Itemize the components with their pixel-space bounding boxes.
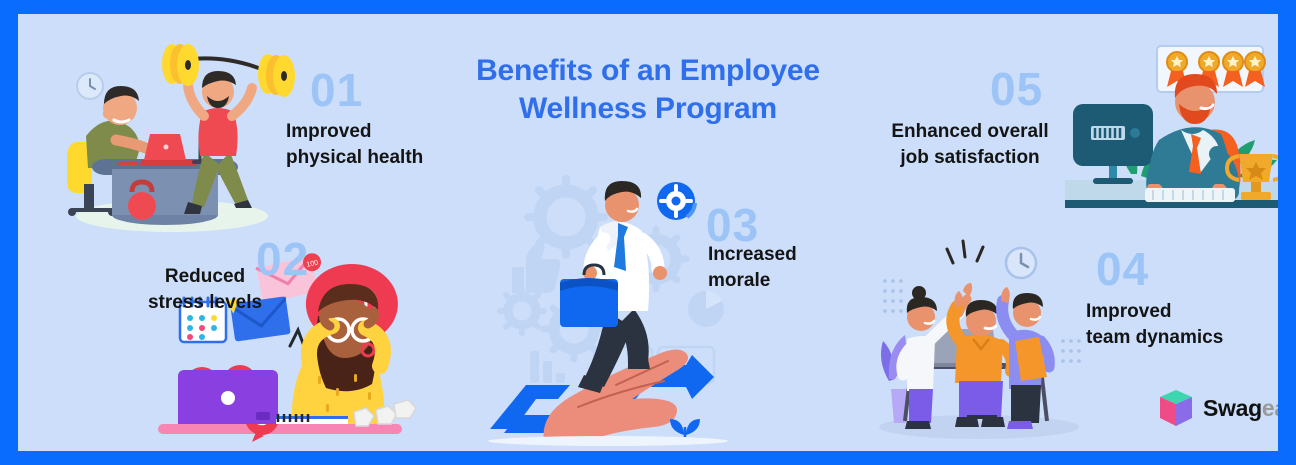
- benefit-number-05: 05: [990, 66, 1043, 112]
- title-line-1: Benefits of an Employee: [476, 54, 820, 87]
- logo-wordmark: Swageazy: [1203, 395, 1278, 422]
- high-five-spark: [947, 241, 983, 263]
- caption-line-2: physical health: [286, 147, 423, 168]
- wall-clock-icon: [1006, 248, 1036, 278]
- caption-line-2: stress levels: [148, 292, 262, 313]
- infographic-poster: Benefits of an Employee Wellness Program: [0, 0, 1296, 465]
- illustration-increased-morale: [488, 179, 738, 444]
- thumbs-up-icon: [512, 243, 560, 293]
- swageazy-logo[interactable]: Swageazy: [1158, 388, 1278, 428]
- benefit-number-01: 01: [310, 67, 363, 113]
- illustration-improved-team-dynamics: [873, 229, 1093, 444]
- poster-canvas: Benefits of an Employee Wellness Program: [18, 14, 1278, 451]
- benefit-caption-03: Increased morale: [708, 242, 898, 293]
- benefit-caption-04: Improved team dynamics: [1086, 299, 1278, 350]
- logo-text-primary: Swag: [1203, 395, 1262, 421]
- benefit-caption-01: Improved physical health: [286, 119, 476, 170]
- illustration-enhanced-job-satisfaction: [1063, 42, 1278, 227]
- caption-line-1: Improved: [1086, 301, 1172, 322]
- wall-clock-icon: [77, 73, 103, 99]
- caption-line-2: morale: [708, 270, 770, 291]
- monitor: [1073, 104, 1153, 184]
- benefit-number-04: 04: [1096, 246, 1149, 292]
- benefit-caption-05: Enhanced overall job satisfaction: [880, 119, 1060, 170]
- caption-line-2: team dynamics: [1086, 327, 1223, 348]
- sprout-icon: [670, 419, 700, 437]
- page-title: Benefits of an Employee Wellness Program: [388, 52, 908, 129]
- cube-logo-icon: [1158, 388, 1194, 428]
- keyboard: [1145, 188, 1235, 202]
- settings-gear-badge: [657, 182, 695, 220]
- caption-line-1: Increased: [708, 244, 797, 265]
- barbell-right-plate: [258, 54, 295, 97]
- seated-businessman: [1146, 74, 1231, 201]
- caption-line-2: job satisfaction: [900, 147, 1039, 168]
- purple-laptop-icon: [178, 370, 278, 424]
- illustration-improved-physical-health: [54, 44, 304, 234]
- caption-line-1: Enhanced overall: [891, 121, 1048, 142]
- caption-line-1: Improved: [286, 121, 372, 142]
- logo-text-secondary: eazy: [1262, 395, 1278, 421]
- benefit-caption-02: Reduced stress levels: [110, 264, 300, 315]
- caption-line-1: Reduced: [165, 266, 245, 287]
- barbell-left-plate: [162, 44, 199, 86]
